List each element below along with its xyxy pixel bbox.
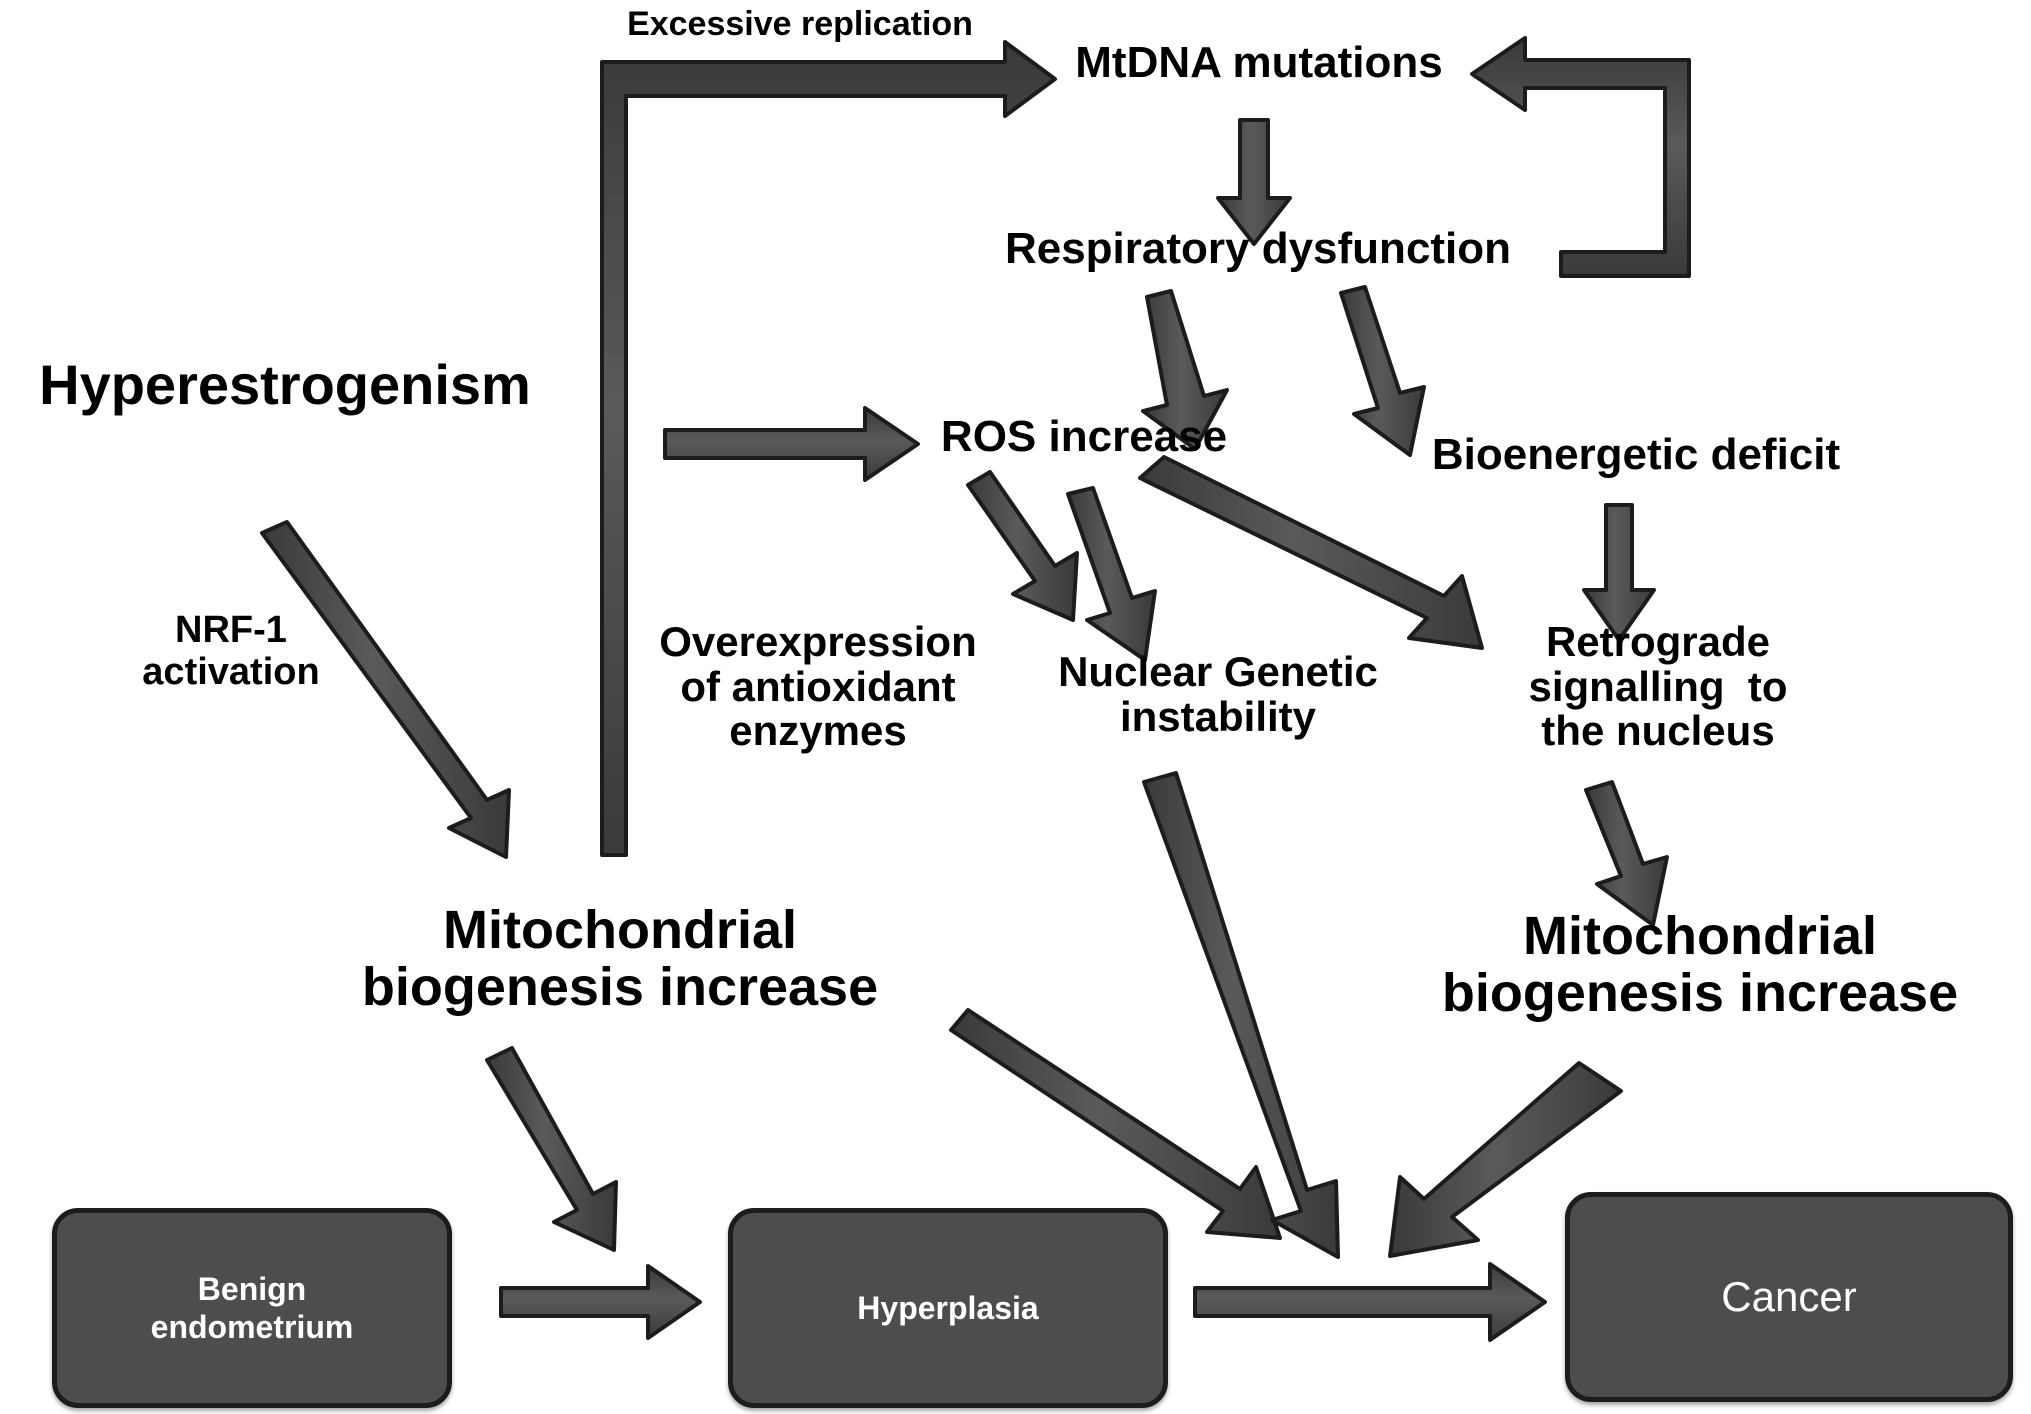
mito-left-to-benign-arrow	[487, 1048, 616, 1250]
edge-label-nrf1-activation: NRF-1 activation	[106, 610, 356, 694]
respiratory-to-bioenergetic-arrow	[1341, 287, 1424, 455]
retrograde-to-mito-right-arrow	[1586, 782, 1667, 925]
benign-to-hyperplasia-arrow	[501, 1266, 700, 1338]
node-mtdna-mutations: MtDNA mutations	[1044, 40, 1474, 87]
node-respiratory-dysfunction: Respiratory dysfunction	[988, 226, 1528, 273]
node-mitochondrial-biogenesis-left: Mitochondrial biogenesis increase	[300, 902, 940, 1016]
nuclear-to-cancer-arrow	[1144, 773, 1338, 1257]
edge-label-excessive-replication: Excessive replication	[600, 6, 1000, 43]
stage-box-cancer[interactable]: Cancer	[1565, 1192, 2013, 1402]
ros-to-antioxidant-arrow	[968, 472, 1077, 620]
node-mitochondrial-biogenesis-right: Mitochondrial biogenesis increase	[1380, 908, 2020, 1022]
node-ros-increase: ROS increase	[914, 414, 1254, 461]
node-retrograde-signalling: Retrograde signalling to the nucleus	[1477, 620, 1839, 754]
mito-left-to-cancer-arrow	[951, 1010, 1280, 1238]
pathway-diagram: Hyperestrogenism MtDNA mutations Respira…	[0, 0, 2031, 1414]
hyperplasia-to-cancer-arrow	[1195, 1264, 1545, 1340]
node-bioenergetic-deficit: Bioenergetic deficit	[1401, 432, 1871, 479]
ros-to-retrograde-arrow	[1140, 457, 1482, 648]
ros-to-nuclear-arrow	[1068, 488, 1155, 660]
stage-box-benign-endometrium[interactable]: Benign endometrium	[52, 1208, 452, 1408]
stage-box-hyperplasia[interactable]: Hyperplasia	[728, 1208, 1168, 1408]
node-antioxidant-enzymes: Overexpression of antioxidant enzymes	[628, 620, 1008, 754]
node-hyperestrogenism: Hyperestrogenism	[0, 355, 570, 414]
node-nuclear-genetic-instability: Nuclear Genetic instability	[1032, 650, 1404, 739]
hyperestrogenism-to-ros-arrow	[665, 408, 918, 480]
